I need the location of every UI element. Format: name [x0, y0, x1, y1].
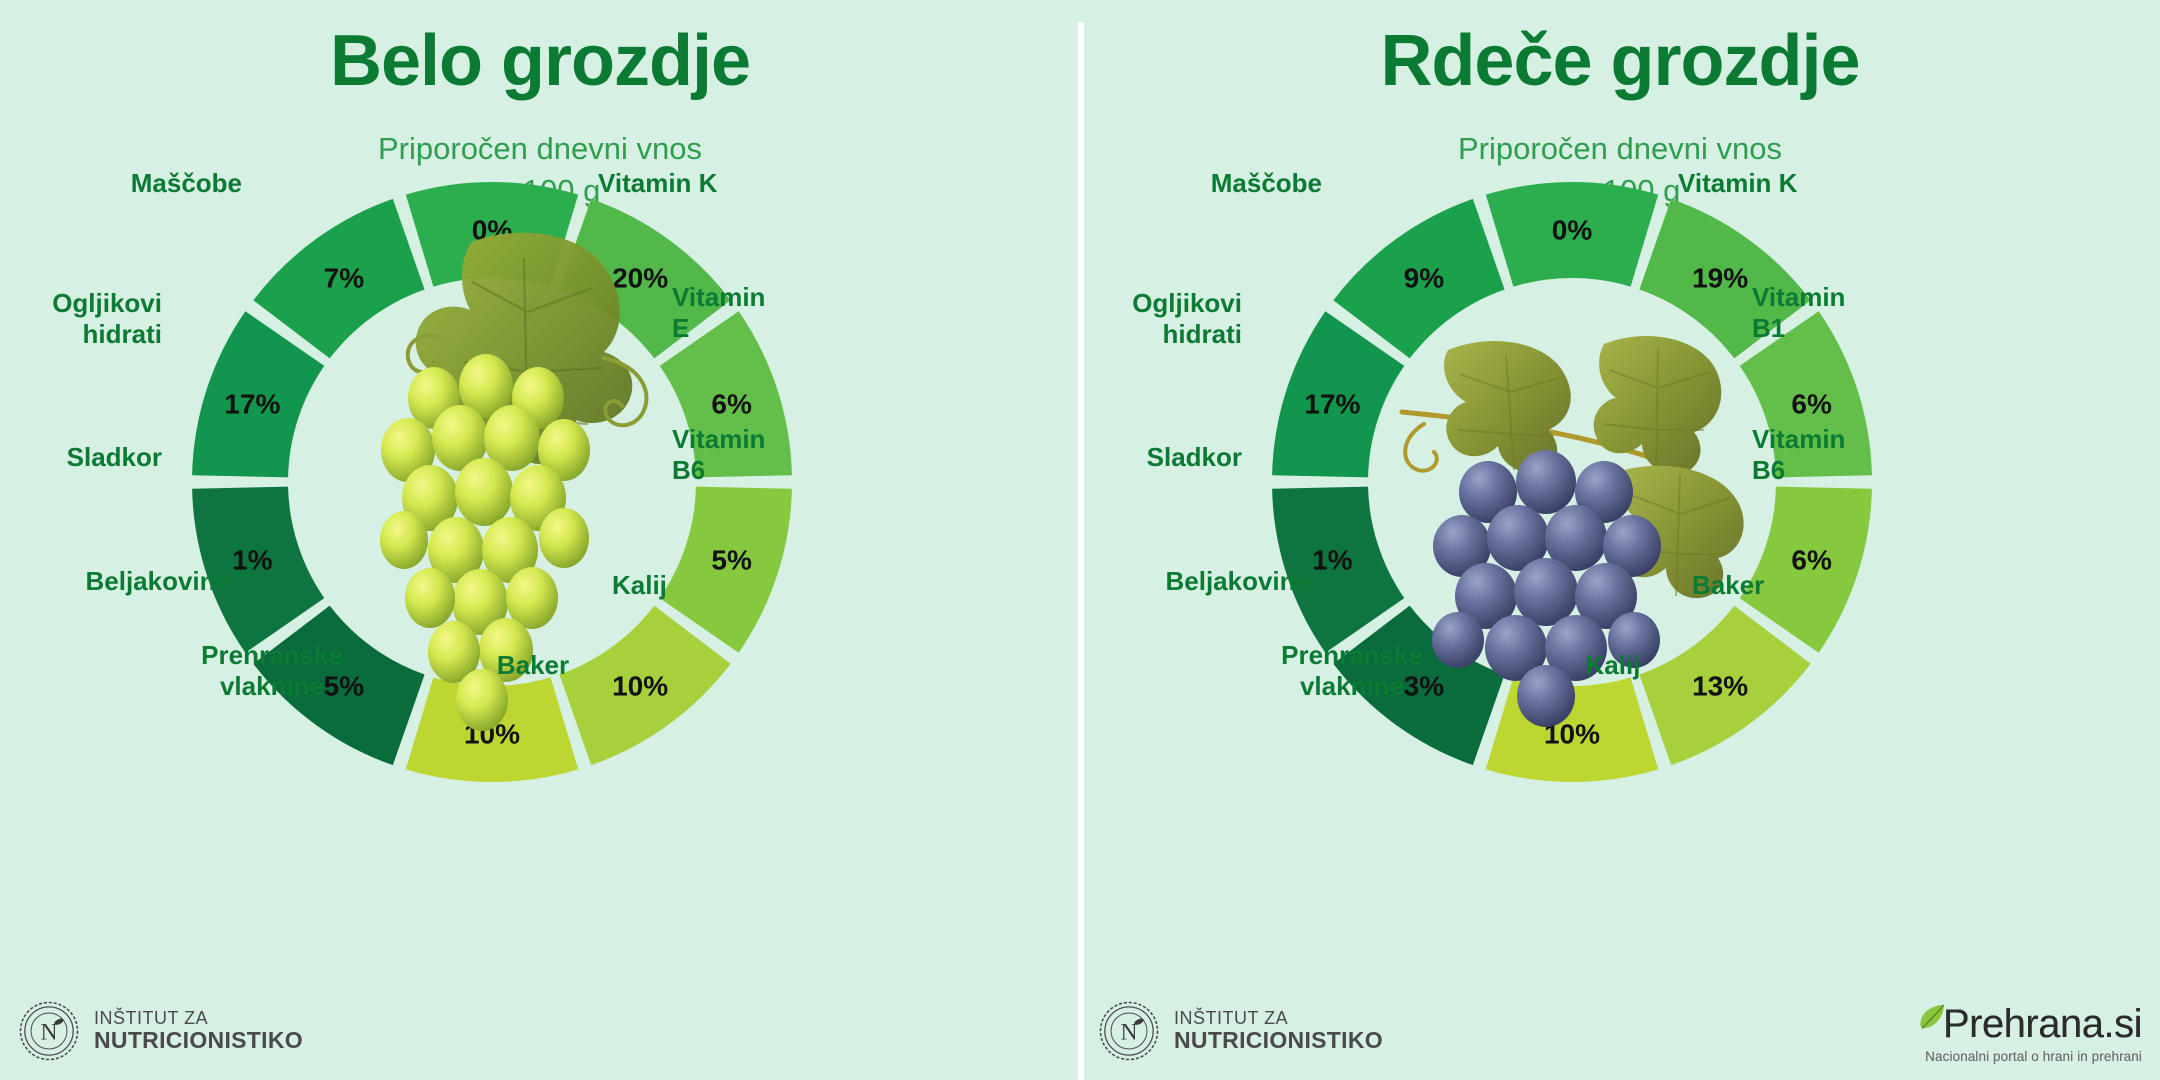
- segment-value-label: 6%: [1791, 389, 1832, 420]
- footer-institute-left: N INŠTITUT ZA NUTRICIONISTIKO: [18, 1000, 303, 1062]
- segment-value-label: 7%: [324, 263, 365, 294]
- segment-name-label: Vitamin K: [1678, 168, 1878, 199]
- segment-name-label: Prehranske vlaknine: [172, 640, 372, 701]
- segment-name-label: Ogljikovi hidrati: [1082, 288, 1242, 349]
- segment-value-label: 13%: [1692, 670, 1748, 701]
- segment-value-label: 0%: [1552, 215, 1593, 246]
- segment-value-label: 9%: [1404, 263, 1445, 294]
- segment-value-label: 0%: [472, 215, 513, 246]
- panel-white-grapes: Belo grozdje Priporočen dnevni vnos na 1…: [0, 0, 1080, 1080]
- segment-name-label: Sladkor: [1092, 442, 1242, 473]
- segment-name-label: Beljakovine: [1130, 566, 1310, 597]
- segment-name-label: Baker: [448, 650, 618, 681]
- institute-line2: NUTRICIONISTIKO: [1174, 1028, 1383, 1052]
- segment-name-label: Ogljikovi hidrati: [2, 288, 162, 349]
- segment-value-label: 20%: [612, 263, 668, 294]
- infographic-root: Belo grozdje Priporočen dnevni vnos na 1…: [0, 0, 2160, 1080]
- institute-line2: NUTRICIONISTIKO: [94, 1028, 303, 1052]
- brand-name: Prehrana.si: [1943, 1004, 2142, 1044]
- segment-value-label: 1%: [1312, 544, 1353, 575]
- page-title-right: Rdeče grozdje: [1080, 24, 2160, 100]
- institute-seal-icon: N: [1098, 1000, 1160, 1062]
- institute-seal-icon: N: [18, 1000, 80, 1062]
- footer-brand-right: Prehrana.si Nacionalni portal o hrani in…: [1915, 1000, 2142, 1064]
- segment-name-label: Sladkor: [12, 442, 162, 473]
- segment-value-label: 10%: [612, 670, 668, 701]
- segment-value-label: 10%: [464, 719, 520, 750]
- segment-name-label: Vitamin E: [672, 282, 802, 343]
- footer-institute-right: N INŠTITUT ZA NUTRICIONISTIKO: [1098, 1000, 1383, 1062]
- segment-name-label: Vitamin K: [598, 168, 798, 199]
- brand-tagline: Nacionalni portal o hrani in prehrani: [1915, 1049, 2142, 1064]
- segment-name-label: Vitamin B1: [1752, 282, 1882, 343]
- institute-name: INŠTITUT ZA NUTRICIONISTIKO: [1174, 1009, 1383, 1052]
- segment-value-label: 19%: [1692, 263, 1748, 294]
- segment-value-label: 6%: [711, 389, 752, 420]
- segment-name-label: Kalij: [1528, 650, 1698, 681]
- segment-value-label: 17%: [224, 389, 280, 420]
- segment-value-label: 10%: [1544, 719, 1600, 750]
- page-title-left: Belo grozdje: [0, 24, 1080, 100]
- segment-name-label: Vitamin B6: [1752, 424, 1882, 485]
- panel-red-grapes: Rdeče grozdje Priporočen dnevni vnos na …: [1080, 0, 2160, 1080]
- segment-value-label: 1%: [232, 544, 273, 575]
- segment-name-label: Maščobe: [82, 168, 242, 199]
- segment-name-label: Prehranske vlaknine: [1252, 640, 1452, 701]
- institute-name: INŠTITUT ZA NUTRICIONISTIKO: [94, 1009, 303, 1052]
- institute-line1: INŠTITUT ZA: [1174, 1009, 1383, 1028]
- segment-name-label: Kalij: [612, 570, 762, 601]
- segment-name-label: Maščobe: [1162, 168, 1322, 199]
- segment-name-label: Baker: [1692, 570, 1842, 601]
- segment-name-label: Vitamin B6: [672, 424, 802, 485]
- institute-line1: INŠTITUT ZA: [94, 1009, 303, 1028]
- segment-value-label: 17%: [1304, 389, 1360, 420]
- segment-name-label: Beljakovine: [50, 566, 230, 597]
